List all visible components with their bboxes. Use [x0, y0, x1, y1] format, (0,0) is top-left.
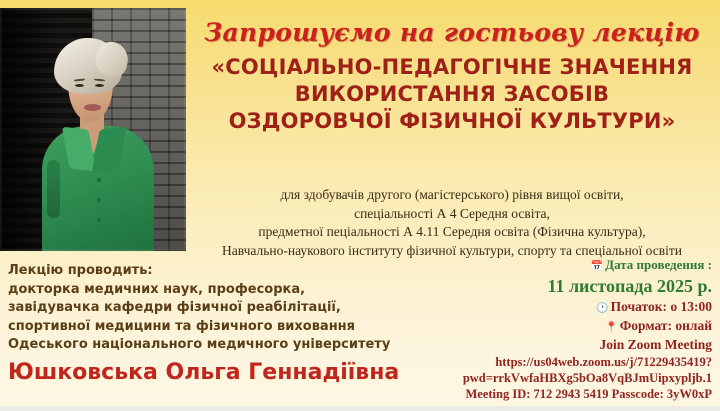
speaker-photo: [0, 8, 186, 251]
join-zoom-meeting-label: Join Zoom Meeting: [412, 336, 712, 354]
zoom-url-line-1[interactable]: https://us04web.zoom.us/j/71229435419?: [412, 354, 712, 370]
audience-line-2: спеціальності А 4 Середня освіта,: [186, 205, 718, 224]
photo-border: [0, 8, 186, 251]
start-time-row: 🕐Початок: о 13:00: [412, 298, 712, 317]
lecturer-credential-line-1: докторка медичних наук, професорка,: [8, 281, 428, 300]
invitation-line: Запрошуємо на гостьову лекцію: [190, 18, 714, 48]
lecturer-intro-label: Лекцію проводить:: [8, 262, 428, 281]
lecture-title: «СОЦІАЛЬНО-ПЕДАГОГІЧНЕ ЗНАЧЕННЯ ВИКОРИСТ…: [190, 54, 714, 135]
lecture-title-line-3: ОЗДОРОВЧОЇ ФІЗИЧНОЇ КУЛЬТУРИ»: [190, 108, 714, 135]
audience-description: для здобувачів другого (магістерського) …: [186, 186, 718, 260]
lecturer-credential-line-4: Одеського національного медичного універ…: [8, 336, 428, 355]
date-value: 11 листопада 2025 р.: [412, 275, 712, 298]
poster-canvas: Запрошуємо на гостьову лекцію «СОЦІАЛЬНО…: [0, 0, 720, 411]
lecturer-name: Юшковська Ольга Геннадіївна: [8, 359, 428, 386]
lecture-title-line-2: ВИКОРИСТАННЯ ЗАСОБІВ: [190, 81, 714, 108]
audience-line-3: предметної пеціальності А 4.11 Середня о…: [186, 223, 718, 242]
audience-line-1: для здобувачів другого (магістерського) …: [186, 186, 718, 205]
event-details-block: 📅Дата проведення : 11 листопада 2025 р. …: [412, 256, 712, 403]
format-row: 📍Формат: онлай: [412, 317, 712, 336]
start-time-text: Початок: о 13:00: [611, 299, 712, 314]
calendar-icon: 📅: [591, 261, 603, 272]
headline-block: Запрошуємо на гостьову лекцію «СОЦІАЛЬНО…: [190, 18, 714, 135]
date-label-row: 📅Дата проведення :: [412, 256, 712, 275]
lecturer-credential-line-2: завідувачка кафедри фізичної реабілітаці…: [8, 299, 428, 318]
clock-icon: 🕐: [596, 303, 608, 314]
date-label-text: Дата проведення :: [605, 257, 712, 272]
lecture-title-line-1: «СОЦІАЛЬНО-ПЕДАГОГІЧНЕ ЗНАЧЕННЯ: [190, 54, 714, 81]
bottom-edge-strip: [0, 406, 720, 411]
meeting-id-passcode: Meeting ID: 712 2943 5419 Passcode: 3yW0…: [412, 386, 712, 403]
format-text: Формат: онлай: [620, 318, 712, 333]
lecturer-credential-line-3: спортивної медицини та фізичного вихован…: [8, 318, 428, 337]
lecturer-block: Лекцію проводить: докторка медичних наук…: [8, 262, 428, 386]
location-pin-icon: 📍: [605, 322, 617, 333]
zoom-url-line-2[interactable]: pwd=rrkVwfaHBXg5bOa8VqBJmUipxypljb.1: [412, 370, 712, 386]
